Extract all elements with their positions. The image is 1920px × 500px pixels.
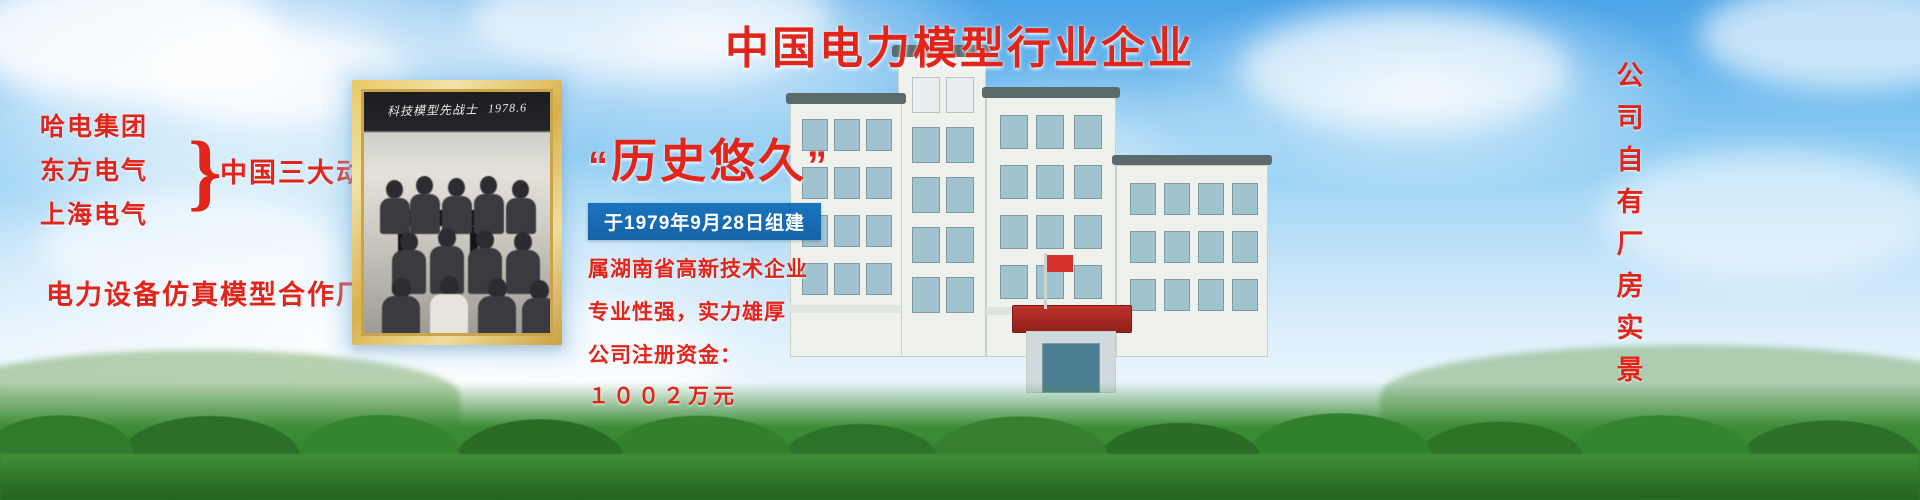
red-flag xyxy=(1047,255,1073,272)
photo-caption-text: 科技模型先战士 xyxy=(387,100,478,119)
vertical-char-5: 房 xyxy=(1617,265,1644,307)
quote-close: ” xyxy=(807,144,830,188)
hedge-row xyxy=(0,454,1920,500)
right-vertical-text: 公 司 自 有 厂 房 实 景 xyxy=(1608,55,1652,391)
vertical-char-3: 有 xyxy=(1617,181,1644,223)
vertical-char-0: 公 xyxy=(1617,55,1644,97)
vertical-char-6: 实 xyxy=(1617,307,1644,349)
vertical-char-4: 厂 xyxy=(1617,223,1644,265)
quote-open: “ xyxy=(588,144,611,188)
registered-capital-amount: １００２万元 xyxy=(588,380,888,410)
historical-photo-frame: 科技模型先战士 1978.6 xyxy=(352,80,562,345)
company-banner: 中国电力模型行业企业 哈电集团 东方电气 上海电气 } 中国三大动力 电力设备仿… xyxy=(0,0,1920,500)
vertical-char-2: 自 xyxy=(1617,139,1644,181)
page-title-text: 中国电力模型行业企业 xyxy=(725,12,1195,76)
founding-date-badge: 于1979年9月28日组建 xyxy=(588,203,821,240)
vertical-char-1: 司 xyxy=(1617,97,1644,139)
history-headline: “历史悠久” xyxy=(588,125,888,191)
center-info-block: “历史悠久” 于1979年9月28日组建 属湖南省高新技术企业 专业性强，实力雄… xyxy=(588,125,888,410)
center-line-1: 专业性强，实力雄厚 xyxy=(588,296,888,326)
vertical-char-7: 景 xyxy=(1617,349,1644,391)
photo-caption: 科技模型先战士 1978.6 xyxy=(364,94,551,124)
brace-icon: } xyxy=(188,101,222,241)
center-line-0: 属湖南省高新技术企业 xyxy=(588,253,888,283)
center-line-2: 公司注册资金： xyxy=(588,339,888,369)
company-item-1: 东方电气 xyxy=(40,149,148,193)
cooperation-label: 电力设备仿真模型合作厂家 xyxy=(46,273,394,312)
photo-caption-date: 1978.6 xyxy=(488,100,527,116)
company-list: 哈电集团 东方电气 上海电气 } xyxy=(40,105,148,237)
company-item-0: 哈电集团 xyxy=(40,105,148,149)
history-headline-text: 历史悠久 xyxy=(611,135,807,187)
historical-photo: 科技模型先战士 1978.6 xyxy=(361,89,553,336)
entrance-signboard xyxy=(1012,305,1132,333)
company-item-2: 上海电气 xyxy=(40,193,148,237)
